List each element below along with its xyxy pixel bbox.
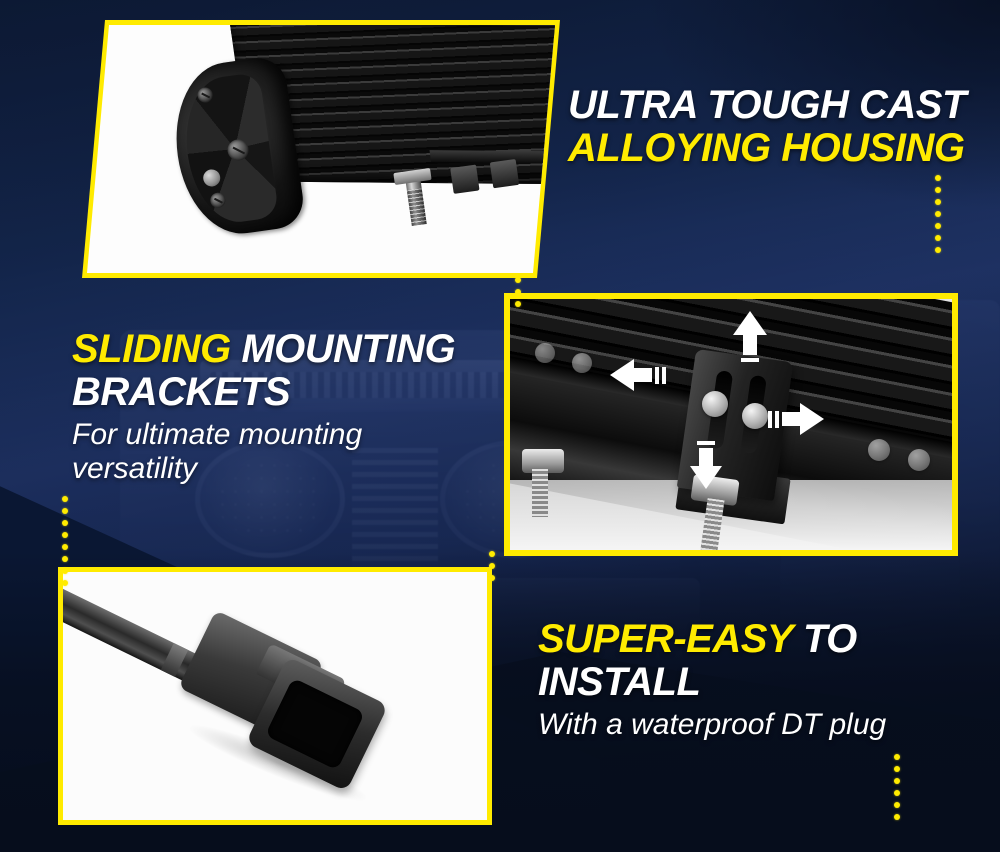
housing-photo-panel (82, 20, 560, 278)
mount-tab (490, 159, 519, 188)
lightbar-end-cap (166, 54, 307, 241)
arrow-left-icon (610, 359, 666, 391)
dotted-connector-panel2-panel3 (489, 551, 495, 587)
install-subtitle: With a waterproof DT plug (538, 708, 886, 742)
brackets-subtitle-line1: For ultimate mounting (72, 418, 455, 452)
housing-headline-line2: ALLOYING HOUSING (568, 127, 966, 170)
brackets-headline-line2: BRACKETS (72, 371, 455, 414)
plug-photo-panel (58, 567, 492, 825)
feature-graphic: ULTRA TOUGH CAST ALLOYING HOUSING SLIDIN… (0, 0, 1000, 852)
bracket-photo-panel (504, 293, 958, 556)
bolt-head-icon (535, 343, 555, 363)
install-text-block: SUPER-EASY TO INSTALL With a waterproof … (538, 618, 886, 742)
install-headline-yellow-word: SUPER-EASY (538, 617, 792, 661)
foreground-bolt-shaft (532, 469, 548, 517)
brackets-text-block: SLIDING MOUNTING BRACKETS For ultimate m… (72, 328, 455, 486)
housing-text-block: ULTRA TOUGH CAST ALLOYING HOUSING (568, 84, 966, 170)
brackets-headline-white-word: MOUNTING (231, 327, 455, 371)
dotted-connector-install (894, 754, 900, 826)
bracket-bolt-right (742, 403, 768, 429)
arrow-right-icon (768, 403, 824, 435)
brackets-subtitle-line2: versatility (72, 452, 455, 486)
lightbar-endcap-illustration (164, 20, 560, 239)
bracket-photo-inner (510, 299, 952, 550)
brackets-headline-line1: SLIDING MOUNTING (72, 328, 455, 371)
arrow-down-icon (690, 441, 722, 489)
plug-photo-inner (63, 572, 487, 820)
housing-headline-line1: ULTRA TOUGH CAST (568, 84, 966, 127)
bolt-head-icon (908, 449, 930, 471)
install-headline-white-word: TO (792, 617, 856, 661)
install-headline-line1: SUPER-EASY TO (538, 618, 886, 661)
mount-tab (450, 165, 479, 194)
brackets-headline-yellow-word: SLIDING (72, 327, 231, 371)
bolt-head-icon (868, 439, 890, 461)
dotted-connector-housing (935, 175, 941, 259)
sliding-bracket-illustration (510, 299, 952, 550)
dotted-connector-panel1-panel2 (515, 277, 521, 313)
dotted-connector-brackets (62, 496, 68, 592)
arrow-up-icon (733, 311, 767, 362)
mount-bolt (405, 178, 426, 226)
bolt-head-icon (572, 353, 592, 373)
bracket-bolt-left (702, 391, 728, 417)
install-headline-line2: INSTALL (538, 661, 886, 704)
housing-photo-inner (82, 20, 560, 278)
